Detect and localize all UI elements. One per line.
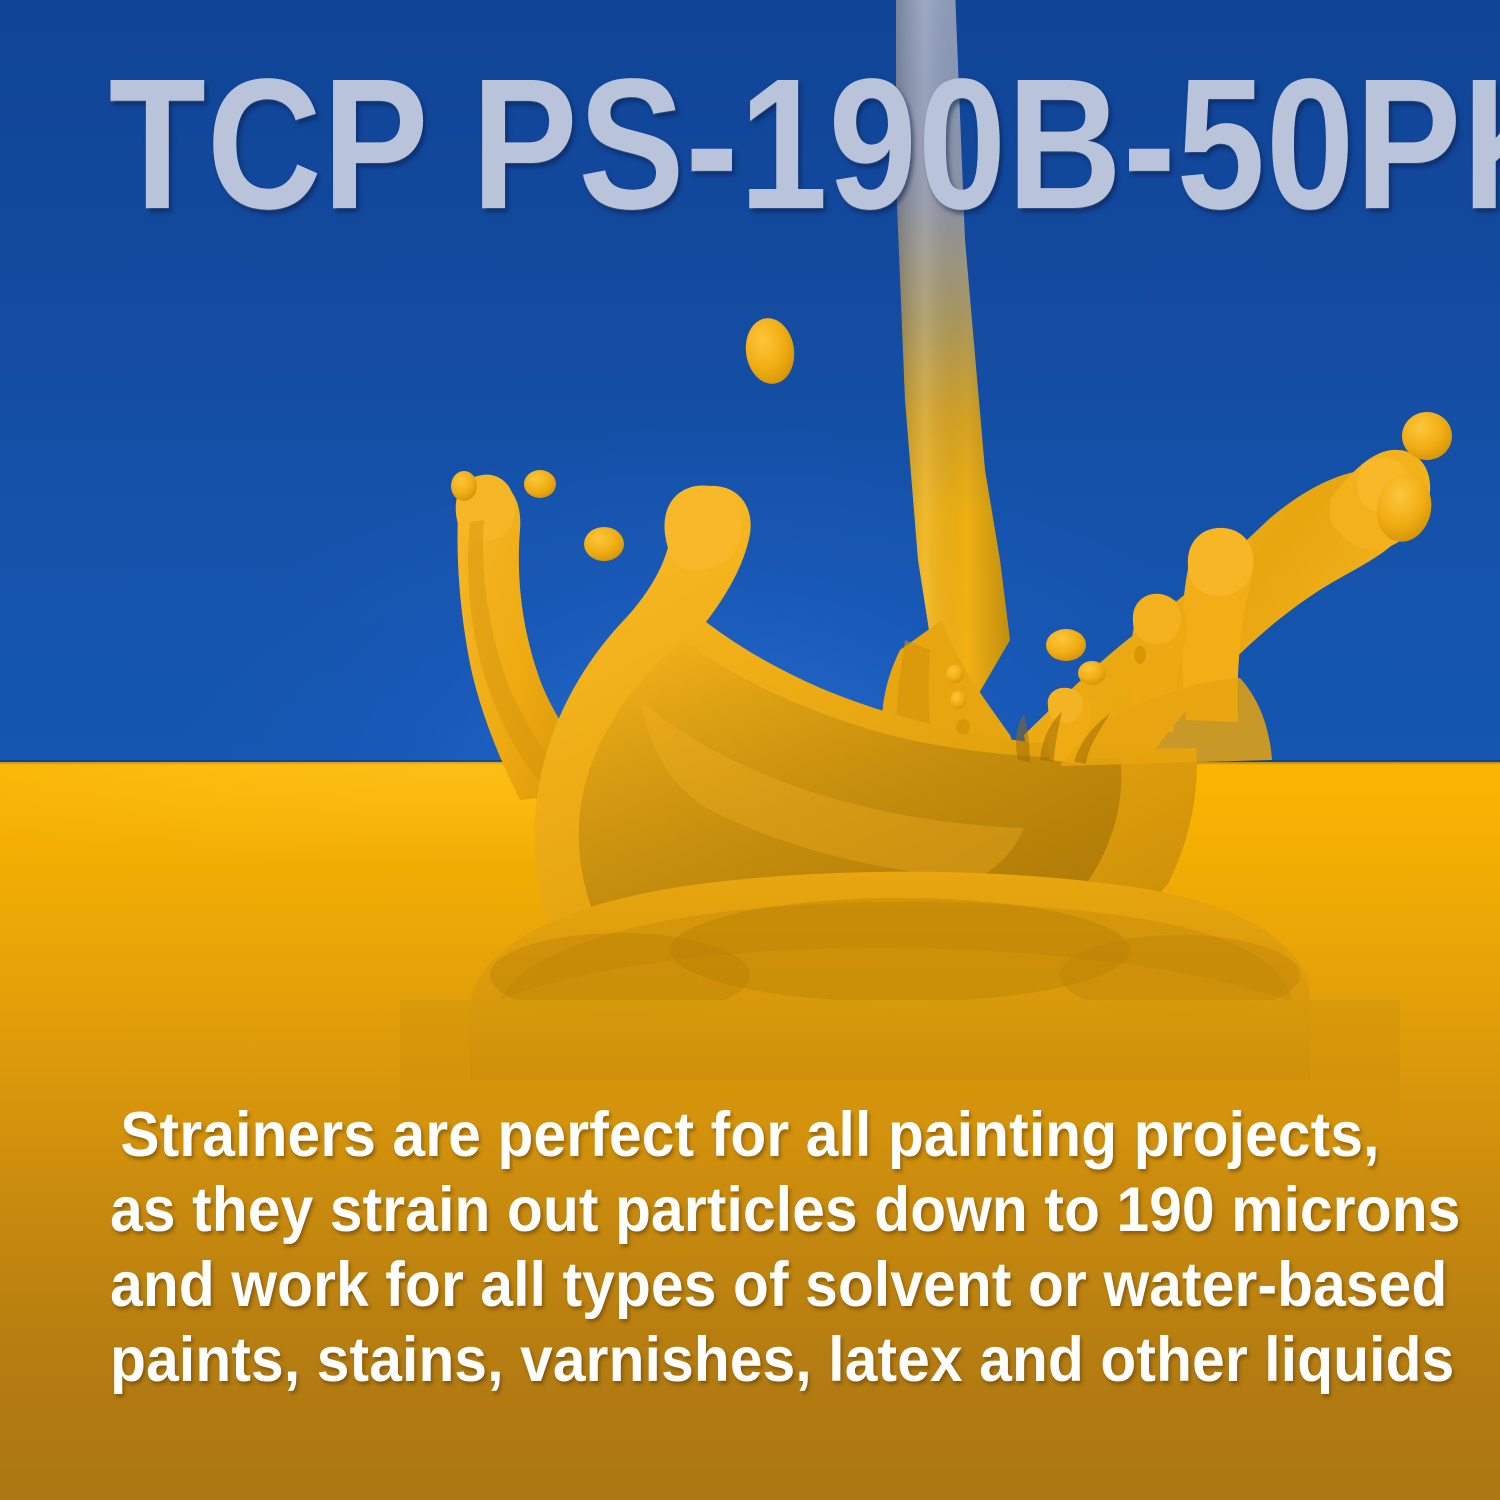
product-banner: TCP PS-190B-50PK Strainers are perfect f… [0,0,1500,1500]
caption-line-3: and work for all types of solvent or wat… [110,1248,1390,1323]
page-title: TCP PS-190B-50PK [109,52,1392,238]
caption-line-4: paints, stains, varnishes, latex and oth… [110,1323,1390,1398]
caption-block: Strainers are perfect for all painting p… [62,1098,1438,1398]
caption-line-2: as they strain out particles down to 190… [110,1173,1390,1248]
caption-line-1: Strainers are perfect for all painting p… [110,1098,1390,1173]
